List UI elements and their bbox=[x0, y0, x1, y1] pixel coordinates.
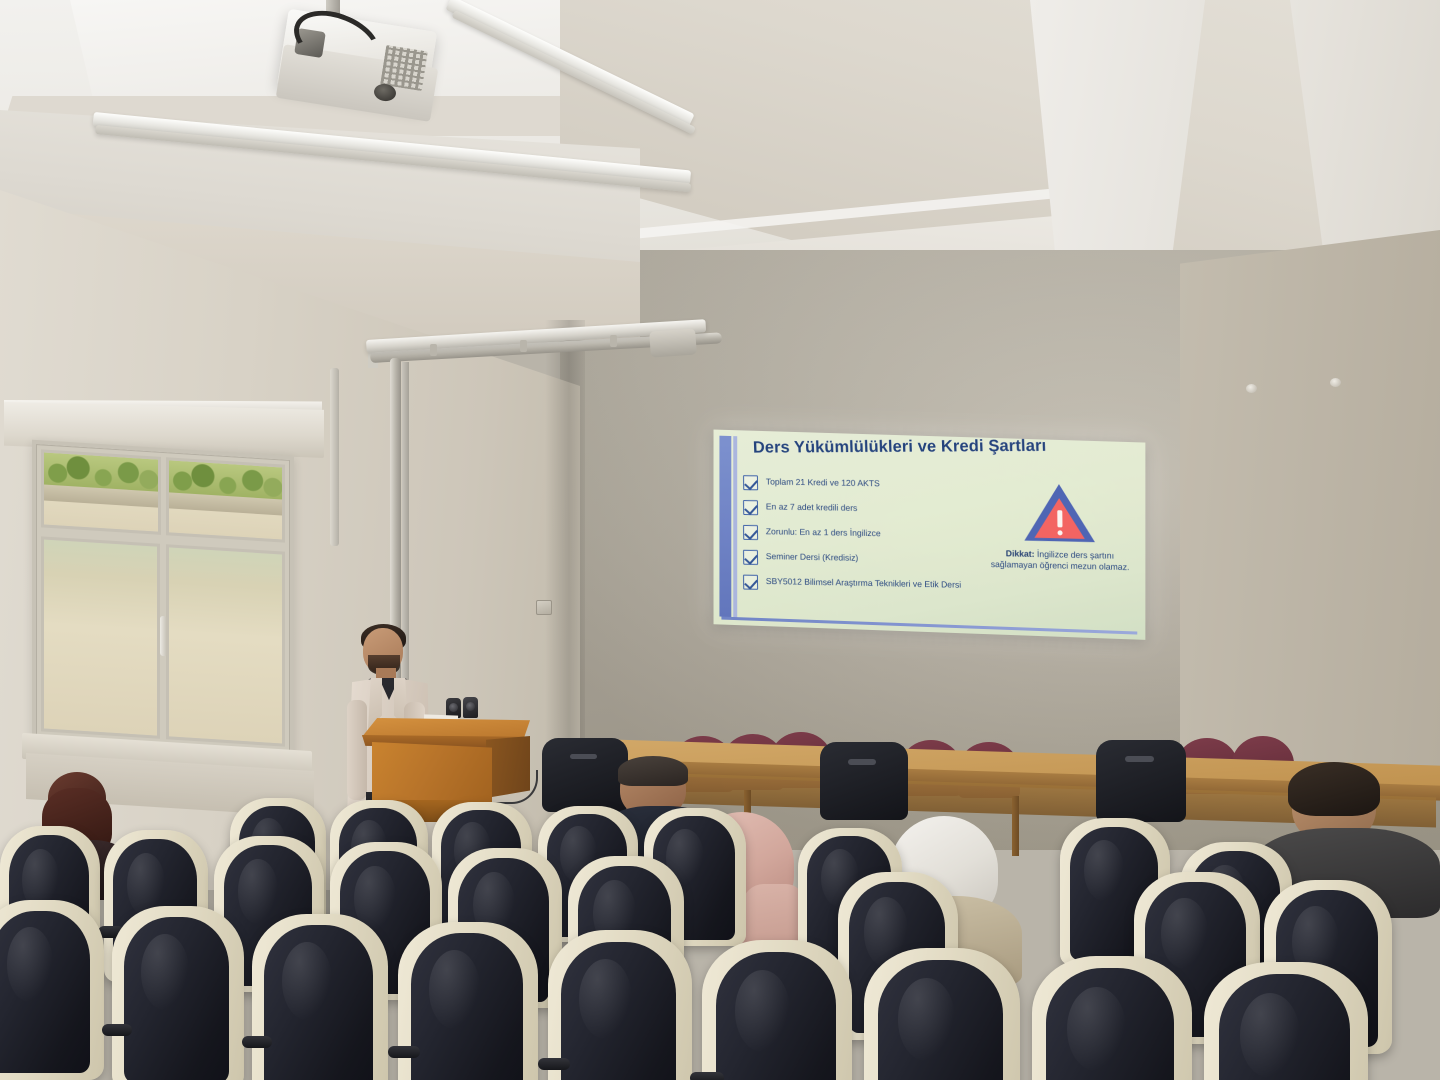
auditorium-seat-front[interactable] bbox=[0, 900, 104, 1080]
light-switch[interactable] bbox=[536, 600, 552, 615]
slide-bullet-text: Zorunlu: En az 1 ders İngilizce bbox=[766, 524, 881, 538]
stacking-chair-back bbox=[1096, 740, 1186, 822]
warning-exclamation-bar bbox=[1057, 510, 1062, 527]
window-pane-transom-left bbox=[41, 449, 161, 535]
stacking-chair-back bbox=[820, 742, 908, 820]
seat-cushion bbox=[878, 960, 1003, 1080]
conduit-clip bbox=[520, 340, 527, 352]
attendee-hair-center bbox=[618, 756, 688, 786]
seat-highlight bbox=[1067, 987, 1126, 1071]
auditorium-seat-front[interactable] bbox=[548, 930, 692, 1080]
slide-bullet-text: Toplam 21 Kredi ve 120 AKTS bbox=[766, 474, 880, 488]
auditorium-seat-front[interactable] bbox=[864, 948, 1020, 1080]
seat-armrest[interactable] bbox=[102, 1024, 132, 1036]
checkbox-checked-icon bbox=[743, 575, 758, 590]
slide-accent-bar bbox=[719, 436, 731, 617]
window-view-stone-wall bbox=[44, 540, 157, 736]
checkbox-checked-icon bbox=[743, 525, 758, 540]
speaker-cone-icon bbox=[466, 702, 475, 711]
seat-highlight bbox=[1240, 993, 1300, 1078]
screen-mount-bracket bbox=[1330, 378, 1341, 387]
conduit-left-drop bbox=[330, 368, 339, 546]
seat-armrest[interactable] bbox=[538, 1058, 570, 1070]
seat-highlight bbox=[7, 927, 53, 1002]
seat-armrest[interactable] bbox=[690, 1072, 724, 1080]
seat-highlight bbox=[1084, 840, 1124, 901]
seminar-room-photo: Ders Yükümlülükleri ve Kredi Şartları To… bbox=[0, 0, 1440, 1080]
stacking-chair-back bbox=[542, 738, 628, 812]
warning-triangle-icon bbox=[1024, 483, 1095, 542]
table-leg bbox=[1012, 796, 1019, 856]
seat-cushion bbox=[1046, 968, 1174, 1080]
checkbox-checked-icon bbox=[743, 475, 758, 490]
seat-highlight bbox=[579, 959, 632, 1039]
seat-cushion bbox=[0, 911, 90, 1073]
slide-bullet-item: Toplam 21 Kredi ve 120 AKTS bbox=[743, 474, 992, 494]
auditorium-seat-front[interactable] bbox=[1032, 956, 1192, 1080]
auditorium-seat-front[interactable] bbox=[252, 914, 388, 1080]
conduit-clip bbox=[430, 344, 437, 356]
seat-highlight bbox=[141, 934, 190, 1010]
seat-highlight bbox=[282, 942, 332, 1020]
slide-bullet-list: Toplam 21 Kredi ve 120 AKTS En az 7 adet… bbox=[743, 472, 992, 605]
slide-bullet-text: En az 7 adet kredili ders bbox=[766, 499, 858, 513]
slide-accent-bar-light bbox=[733, 436, 737, 617]
auditorium-seat-front[interactable] bbox=[398, 922, 538, 1080]
slide-bullet-item: En az 7 adet kredili ders bbox=[743, 499, 992, 519]
window-handle[interactable] bbox=[160, 615, 167, 655]
seat-highlight bbox=[429, 950, 481, 1029]
stacking-chair bbox=[542, 738, 628, 812]
attendee-hair-right bbox=[1288, 762, 1380, 816]
auditorium-seat-front[interactable] bbox=[112, 906, 244, 1080]
screen-mount-bracket bbox=[1246, 384, 1257, 393]
seat-cushion bbox=[561, 942, 676, 1080]
seat-cushion bbox=[716, 952, 836, 1080]
seat-cushion bbox=[1219, 974, 1350, 1080]
warning-exclamation-dot bbox=[1057, 530, 1062, 535]
seat-highlight bbox=[735, 970, 790, 1052]
seat-highlight bbox=[898, 978, 955, 1061]
stacking-chair-handle-slot bbox=[848, 759, 876, 764]
window-transom-row bbox=[41, 449, 285, 542]
seat-armrest[interactable] bbox=[388, 1046, 420, 1058]
slide-warning-text: Dikkat: İngilizce ders şartını sağlamaya… bbox=[984, 548, 1135, 574]
conduit-vertical-secondary bbox=[402, 362, 409, 700]
window-pane-lower-left[interactable] bbox=[41, 536, 160, 738]
checkbox-checked-icon bbox=[743, 550, 758, 565]
projected-slide: Ders Yükümlülükleri ve Kredi Şartları To… bbox=[714, 430, 1146, 640]
window-view-stone-wall bbox=[169, 547, 282, 743]
window-view-stone-wall bbox=[169, 504, 283, 540]
podium-speaker-right bbox=[463, 697, 478, 718]
slide-bullet-text: Seminer Dersi (Kredisiz) bbox=[766, 549, 859, 563]
window-pane-transom-right bbox=[166, 457, 286, 543]
seat-cushion bbox=[124, 917, 230, 1080]
speaker-cone-icon bbox=[449, 703, 458, 712]
stacking-chair bbox=[1096, 740, 1186, 822]
slide-bullet-item: Seminer Dersi (Kredisiz) bbox=[743, 549, 992, 570]
slide-bullet-item: Zorunlu: En az 1 ders İngilizce bbox=[743, 524, 992, 544]
stacking-chair-handle-slot bbox=[570, 754, 598, 759]
stacking-chair-handle-slot bbox=[1125, 756, 1154, 762]
checkbox-checked-icon bbox=[743, 500, 758, 515]
seat-cushion bbox=[411, 933, 523, 1080]
stacking-chair bbox=[820, 742, 908, 820]
right-wall bbox=[1180, 230, 1440, 790]
presenter-arm-left bbox=[347, 700, 367, 800]
window-pane-lower-right[interactable] bbox=[166, 544, 285, 746]
conduit-clip bbox=[610, 335, 617, 347]
seat-armrest[interactable] bbox=[242, 1036, 272, 1048]
auditorium-seat-front[interactable] bbox=[1204, 962, 1368, 1080]
slide-bullet-text: SBY5012 Bilimsel Araştırma Teknikleri ve… bbox=[766, 574, 961, 590]
slide-bullet-item: SBY5012 Bilimsel Araştırma Teknikleri ve… bbox=[743, 574, 992, 595]
auditorium-seat-front[interactable] bbox=[702, 940, 852, 1080]
window-frame bbox=[32, 440, 294, 756]
seat-cushion bbox=[264, 925, 373, 1080]
slide-warning-lead: Dikkat: bbox=[1006, 548, 1035, 559]
slide-warning-block: Dikkat: İngilizce ders şartını sağlamaya… bbox=[984, 483, 1136, 574]
window-view-stone-wall bbox=[44, 496, 158, 532]
conduit-junction-box bbox=[649, 328, 697, 357]
